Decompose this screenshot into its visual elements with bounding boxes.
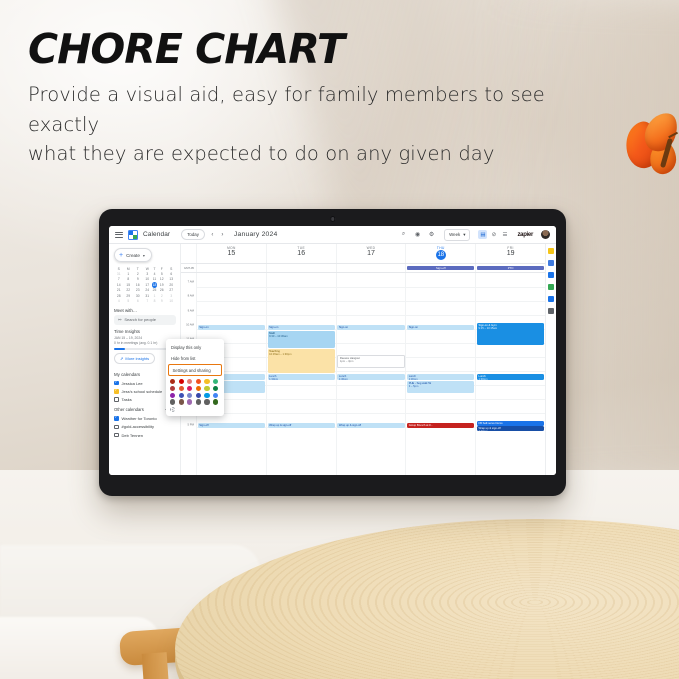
hamburger-icon[interactable] — [115, 232, 123, 238]
calendar-label: Jessica Lee — [122, 381, 143, 386]
event-time: 4:30pm — [478, 430, 542, 431]
page-title: CHORE CHART — [28, 28, 344, 71]
day-slot-column[interactable]: Sign-on & Gym9:15 – 10:15amLunch1:30pmFB… — [475, 273, 545, 475]
calendar-checkbox[interactable] — [114, 433, 119, 438]
apps-grid-icon[interactable]: ☰ — [500, 230, 509, 239]
help-icon[interactable]: ◉ — [413, 230, 422, 239]
color-swatch[interactable] — [179, 386, 184, 391]
view-mode-label: Week — [449, 232, 460, 237]
minical-day[interactable]: 25 — [152, 288, 157, 293]
event-title: Sign-off — [199, 424, 208, 427]
color-swatch[interactable] — [187, 379, 192, 384]
day-number: 15 — [197, 250, 266, 259]
event-time: 1pm – 3pm — [340, 360, 402, 363]
day-number: 18 — [436, 250, 446, 260]
calendar-list-item[interactable]: Weather for Toronto — [114, 415, 176, 423]
brand-logo: zapier — [517, 232, 533, 238]
calendar-view-icon[interactable]: ▤ — [478, 230, 487, 239]
color-swatch[interactable] — [213, 386, 218, 391]
calendar-event[interactable]: Math9:30 – 10:30am — [268, 331, 335, 348]
today-button[interactable]: Today — [181, 229, 205, 240]
day-column-header[interactable]: FRI 19 — [475, 244, 545, 263]
calendar-event[interactable]: Lunch1:30pm — [477, 374, 544, 380]
day-number: 19 — [476, 250, 545, 259]
chevron-right-icon[interactable]: › — [220, 232, 225, 238]
search-icon[interactable]: ⌕ — [399, 230, 408, 239]
event-time: 1:30pm — [339, 378, 403, 380]
week-grid: MON 15 TUE 16 WED 17 THU 18 FRI 19 GMT-0… — [181, 244, 545, 475]
google-calendar-icon — [128, 230, 138, 240]
time-label: 5 PM — [187, 422, 194, 426]
title-highlighted-word: CHORE — [28, 28, 182, 71]
day-slot-column[interactable]: Sign-onLunch1:30pmPHE - Seg walk 5k3 – 5… — [405, 273, 475, 475]
table-top — [175, 519, 679, 679]
plus-icon: + — [119, 252, 123, 259]
timezone-label: GMT-05 — [181, 264, 196, 272]
tablet-device: Calendar Today ‹ › January 2024 ⌕ ◉ ⚙ We… — [99, 209, 566, 496]
all-day-row: GMT-05 Sign-offPTO — [181, 264, 545, 273]
day-slot-column[interactable]: Sign-onMath9:30 – 10:30amTeaching10:45am… — [266, 273, 336, 475]
color-swatch[interactable] — [179, 399, 184, 404]
context-menu-item[interactable]: Hide from list — [166, 353, 224, 364]
calendar-label: Deb Tennen — [122, 433, 144, 438]
table-grain — [175, 519, 679, 679]
event-time: 1:30pm — [269, 378, 333, 380]
calendar-event[interactable]: Sign-on — [198, 325, 265, 330]
headline-block: CHORE CHART Provide a visual aid, easy f… — [28, 28, 628, 169]
time-label: 10 AM — [186, 322, 194, 326]
color-swatch[interactable] — [170, 379, 175, 384]
more-insights-label: More insights — [125, 356, 149, 361]
day-number: 17 — [337, 250, 406, 259]
calendar-checkbox[interactable] — [114, 397, 119, 402]
color-swatch[interactable] — [204, 386, 209, 391]
minical-day[interactable]: 10 — [167, 298, 177, 303]
calendar-event[interactable]: Sign-on — [268, 325, 335, 330]
color-swatch[interactable] — [179, 393, 184, 398]
calendar-event[interactable]: Sign-on & Gym9:15 – 10:15am — [477, 323, 544, 345]
calendar-checkbox[interactable] — [114, 425, 119, 430]
all-day-cell[interactable] — [196, 264, 266, 272]
color-swatch[interactable] — [187, 399, 192, 404]
event-title: Sign-on — [199, 326, 208, 329]
minical-day[interactable]: 9 — [157, 298, 167, 303]
day-column-header[interactable]: THU 18 — [405, 244, 475, 263]
google-maps-icon[interactable] — [548, 284, 554, 290]
create-button-label: Create — [126, 253, 140, 258]
calendar-label: Tasks — [122, 397, 132, 402]
color-swatch[interactable] — [213, 399, 218, 404]
calendar-label: Jess's school schedule — [122, 389, 163, 394]
event-title: Wrap up & sign-off — [269, 424, 291, 427]
calendar-event[interactable]: Wrap up & sign-off — [268, 423, 335, 428]
calendar-event[interactable]: Sign-off — [198, 423, 265, 428]
time-insights-heading: Time Insights — [114, 329, 176, 334]
event-title: Group Brunch at #... — [409, 424, 433, 427]
event-title: Sign-on — [269, 326, 278, 329]
tasks-view-icon[interactable]: ⊘ — [489, 230, 498, 239]
other-calendars-list: Weather for Toronto #gold-accessibility … — [114, 415, 176, 440]
google-calendar-addon-icon[interactable] — [548, 296, 554, 302]
time-label: 9 AM — [188, 308, 194, 312]
calendar-event[interactable]: Group Brunch at #... — [407, 423, 474, 428]
wooden-table — [0, 469, 679, 679]
calendar-event[interactable]: Wrap up & sign-off4:30pm — [477, 426, 544, 431]
subtitle-line-1: Provide a visual aid, easy for family me… — [28, 80, 608, 139]
calendar-event[interactable]: PHE - Seg walk 5k3 – 5pm — [407, 381, 474, 393]
event-time: 9:15 – 10:15am — [478, 327, 542, 330]
color-swatch[interactable] — [196, 393, 201, 398]
event-time: 1:30pm — [409, 378, 473, 380]
calendar-context-menu: Display this onlyHide from listSettings … — [166, 339, 224, 416]
color-swatch[interactable] — [213, 379, 218, 384]
calendar-app-bar: Calendar Today ‹ › January 2024 ⌕ ◉ ⚙ We… — [109, 226, 556, 244]
calendar-event[interactable]: Sign-on — [337, 325, 404, 330]
calendar-event[interactable]: Lunch1:30pm — [268, 374, 335, 380]
add-addon-icon[interactable] — [548, 308, 554, 314]
subtitle-line-2: what they are expected to do on any give… — [28, 139, 608, 169]
chart-icon: ⇗ — [120, 356, 123, 361]
all-day-cell[interactable] — [336, 264, 406, 272]
app-title: Calendar — [143, 231, 170, 238]
calendar-event[interactable]: Reeves Hangout1pm – 3pm — [337, 355, 404, 368]
add-custom-color-icon[interactable]: + — [170, 407, 175, 412]
event-time: 1:30pm — [478, 378, 542, 380]
color-swatch[interactable] — [179, 379, 184, 384]
calendar-event[interactable]: Wrap up & sign-off — [337, 423, 404, 428]
day-number: 16 — [267, 250, 336, 259]
gear-icon[interactable]: ⚙ — [427, 230, 436, 239]
calendar-list-item[interactable]: #gold-accessibility — [114, 423, 176, 431]
color-swatch[interactable] — [187, 386, 192, 391]
chair-leg-lower — [142, 652, 170, 679]
color-swatch[interactable] — [196, 399, 201, 404]
minical-day[interactable]: 5 — [124, 298, 134, 303]
google-tasks-icon[interactable] — [548, 260, 554, 266]
butterfly-decoration — [624, 108, 679, 186]
tablet-screen: Calendar Today ‹ › January 2024 ⌕ ◉ ⚙ We… — [109, 226, 556, 475]
create-button[interactable]: + Create ▾ — [114, 248, 152, 262]
calendar-sidebar: + Create ▾ SMTWTFS3112345678910111213141… — [109, 244, 181, 475]
chevron-down-icon: ▾ — [143, 253, 145, 258]
context-menu-item[interactable]: Display this only — [166, 342, 224, 353]
calendar-list-item[interactable]: Deb Tennen — [114, 431, 176, 439]
google-contacts-icon[interactable] — [548, 272, 554, 278]
chevron-down-icon: ▾ — [463, 232, 465, 238]
calendar-body: + Create ▾ SMTWTFS3112345678910111213141… — [109, 244, 556, 475]
all-day-cell[interactable] — [266, 264, 336, 272]
event-title: Wrap up & sign-off — [339, 424, 361, 427]
all-day-event[interactable]: PTO — [477, 266, 544, 271]
current-month-label: January 2024 — [234, 231, 278, 238]
more-insights-button[interactable]: ⇗ More insights — [114, 353, 155, 364]
day-column-header[interactable]: MON 15 — [196, 244, 266, 263]
color-swatch[interactable] — [170, 386, 175, 391]
addons-sidebar — [545, 244, 556, 475]
time-label: 8 AM — [188, 294, 194, 298]
day-slot-column[interactable]: Sign-onReeves Hangout1pm – 3pmLunch1:30p… — [336, 273, 406, 475]
event-time: 3 – 5pm — [409, 385, 473, 388]
color-swatch[interactable] — [170, 393, 175, 398]
google-keep-icon[interactable] — [548, 248, 554, 254]
meet-with-heading: Meet with… — [114, 308, 176, 313]
calendar-event[interactable]: Lunch1:30pm — [407, 374, 474, 380]
minical-day[interactable]: 6 — [133, 298, 143, 303]
minical-day[interactable]: 4 — [114, 298, 124, 303]
title-rest: CHART — [182, 25, 344, 73]
search-people-input[interactable]: ⚯ Search for people — [114, 315, 176, 325]
view-toggle-group: ▤ ⊘ ☰ — [478, 230, 509, 239]
mini-calendar[interactable]: SMTWTFS311234567891011121314151617181920… — [114, 266, 176, 304]
color-swatch[interactable] — [196, 379, 201, 384]
event-time: 10:45am – 1:30pm — [269, 353, 333, 356]
color-swatch[interactable] — [196, 386, 201, 391]
page-subtitle: Provide a visual aid, easy for family me… — [28, 80, 608, 169]
color-swatch[interactable] — [204, 379, 209, 384]
event-title: Sign-on — [339, 326, 348, 329]
avatar[interactable] — [541, 230, 550, 239]
calendar-checkbox[interactable] — [114, 381, 119, 386]
calendar-event[interactable]: Sign-on — [407, 325, 474, 330]
calendar-label: Weather for Toronto — [122, 416, 157, 421]
all-day-cell[interactable]: PTO — [475, 264, 545, 272]
other-calendars-heading: Other calendars — [114, 407, 144, 412]
calendar-event[interactable]: Lunch1:30pm — [337, 374, 404, 380]
calendar-checkbox[interactable] — [114, 416, 119, 421]
all-day-event[interactable]: Sign-off — [407, 266, 474, 271]
day-column-header[interactable]: TUE 16 — [266, 244, 336, 263]
calendar-label: #gold-accessibility — [122, 424, 154, 429]
context-menu-item[interactable]: Settings and sharing — [168, 364, 222, 376]
view-mode-select[interactable]: Week ▾ — [444, 229, 470, 241]
day-header-row: MON 15 TUE 16 WED 17 THU 18 FRI 19 — [181, 244, 545, 264]
minical-day[interactable]: 7 — [143, 298, 153, 303]
color-swatch[interactable] — [213, 393, 218, 398]
search-people-placeholder: Search for people — [124, 317, 156, 322]
color-swatch-grid — [166, 376, 224, 406]
person-search-icon: ⚯ — [118, 317, 121, 322]
time-label: 7 AM — [188, 280, 194, 284]
chevron-left-icon[interactable]: ‹ — [210, 232, 215, 238]
event-title: Sign-on — [409, 326, 418, 329]
color-swatch[interactable] — [204, 399, 209, 404]
all-day-cell[interactable]: Sign-off — [405, 264, 475, 272]
calendar-event[interactable]: Teaching10:45am – 1:30pm — [268, 349, 335, 373]
color-swatch[interactable] — [204, 393, 209, 398]
event-title: FB Self-serve Demo — [478, 422, 502, 425]
color-swatch[interactable] — [170, 399, 175, 404]
color-swatch[interactable] — [187, 393, 192, 398]
time-slots: 7 AM8 AM9 AM10 AM11 AM12 PM1 PM2 PM3 PM4… — [181, 273, 545, 475]
day-column-header[interactable]: WED 17 — [336, 244, 406, 263]
calendar-checkbox[interactable] — [114, 389, 119, 394]
event-time: 9:30 – 10:30am — [269, 335, 333, 338]
